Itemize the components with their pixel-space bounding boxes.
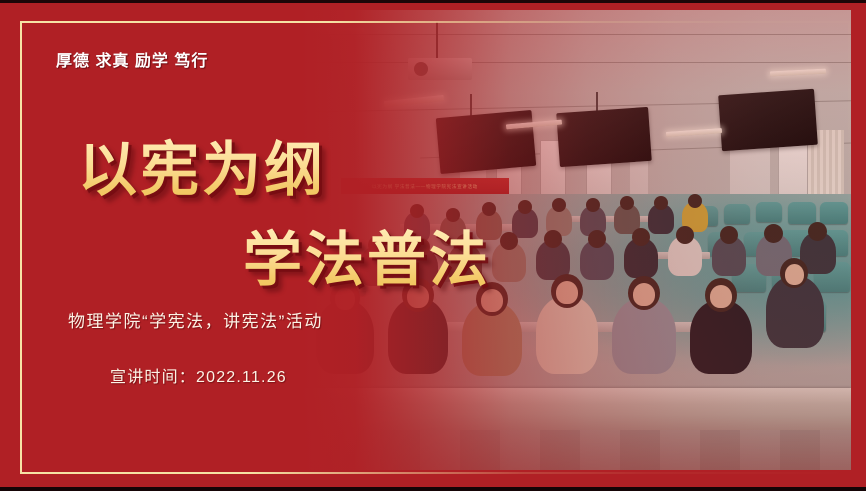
poster-datetime: 宣讲时间：2022.11.26 [110, 363, 287, 387]
audience-face [633, 283, 655, 306]
audience-head [518, 200, 532, 214]
lecture-seat [724, 204, 750, 224]
bottom-edge-bar [0, 487, 866, 491]
ceiling-line [300, 34, 851, 35]
poster-canvas: 以宪为纲 学法普法——物理学院宪法宣讲活动 [0, 0, 866, 491]
lecture-seat [756, 202, 782, 222]
audience-head [588, 230, 606, 248]
ceiling-lamp [310, 28, 364, 33]
hanging-tv-screen [718, 89, 818, 152]
school-motto: 厚德 求真 励学 笃行 [56, 47, 208, 71]
audience-head [720, 226, 738, 244]
audience-head [552, 198, 566, 212]
lecture-seat [788, 202, 816, 224]
hanging-tv-screen [556, 107, 652, 167]
lecture-seat [820, 202, 848, 224]
poster-title-line-2: 学法普法 [243, 212, 491, 297]
audience-head [654, 196, 668, 210]
projector-mount [436, 22, 438, 58]
stage-floor [300, 430, 851, 470]
poster-subtitle: 物理学院“学宪法，讲宪法”活动 [68, 307, 323, 332]
audience-head [632, 228, 650, 246]
audience-head [586, 198, 600, 212]
audience-head [544, 230, 562, 248]
audience-head [808, 222, 827, 241]
hanging-tv-screen [436, 110, 537, 174]
audience-head [764, 224, 783, 243]
audience-face [556, 281, 578, 304]
poster-title-line-1: 以宪为纲 [78, 122, 326, 207]
event-banner-text: 以宪为纲 学法普法——物理学院宪法宣讲活动 [372, 184, 478, 190]
audience-head [620, 196, 634, 210]
projector-lens [414, 62, 428, 76]
audience-head [500, 232, 518, 250]
audience-head [676, 226, 694, 244]
audience-head [688, 194, 702, 208]
audience-face [710, 285, 732, 308]
front-rail [300, 388, 851, 430]
ceiling-line [300, 62, 851, 63]
top-edge-bar [0, 0, 866, 3]
audience-face [785, 264, 804, 285]
